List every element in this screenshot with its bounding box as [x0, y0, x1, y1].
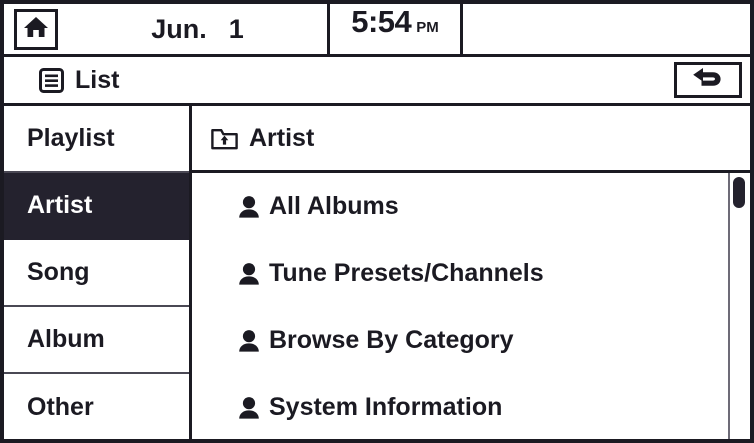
- sidebar-item-label: Album: [27, 325, 105, 354]
- scrollbar[interactable]: [728, 173, 744, 441]
- content-area: Playlist Artist Song Album Other: [4, 106, 750, 441]
- clock-display: 5:54 PM: [330, 4, 463, 54]
- back-arrow-icon: [690, 67, 726, 94]
- person-icon: [238, 262, 260, 285]
- clock-time: 5:54: [351, 4, 411, 40]
- home-button-cell: [4, 4, 68, 54]
- infotainment-screen: Jun. 1 5:54 PM List: [0, 0, 754, 443]
- sidebar-item-label: Song: [27, 258, 90, 287]
- sidebar-item-label: Artist: [27, 191, 92, 220]
- breadcrumb[interactable]: Artist: [192, 106, 750, 173]
- back-button[interactable]: [674, 62, 742, 98]
- list-item-label: Tune Presets/Channels: [269, 259, 544, 288]
- list-item-label: Browse By Category: [269, 326, 514, 355]
- list-scroll-area: All Albums Tune Presets/Channels: [192, 173, 750, 441]
- breadcrumb-label: Artist: [249, 124, 314, 153]
- scrollbar-thumb[interactable]: [733, 177, 745, 208]
- list-panel: Artist All Albums: [192, 106, 750, 441]
- date-display: Jun. 1: [68, 4, 330, 54]
- sidebar-item-album[interactable]: Album: [4, 307, 189, 374]
- page-title: List: [75, 66, 119, 95]
- list-item[interactable]: System Information: [192, 374, 726, 441]
- sidebar-item-playlist[interactable]: Playlist: [4, 106, 189, 173]
- sidebar-item-label: Other: [27, 393, 94, 422]
- person-icon: [238, 195, 260, 218]
- list-items: All Albums Tune Presets/Channels: [192, 173, 726, 441]
- sidebar-item-other[interactable]: Other: [4, 374, 189, 441]
- sidebar-item-artist[interactable]: Artist: [4, 173, 189, 240]
- home-button[interactable]: [14, 9, 58, 50]
- list-item-label: System Information: [269, 393, 502, 422]
- sidebar-item-song[interactable]: Song: [4, 240, 189, 307]
- home-icon: [23, 15, 49, 44]
- list-item[interactable]: All Albums: [192, 173, 726, 240]
- title-bar: List: [4, 57, 750, 106]
- person-icon: [238, 329, 260, 352]
- status-bar-empty-cell: [463, 4, 750, 54]
- folder-up-icon: [211, 127, 238, 150]
- list-icon: [39, 68, 64, 93]
- date-day: 1: [229, 14, 244, 45]
- date-month: Jun.: [151, 14, 207, 45]
- status-bar: Jun. 1 5:54 PM: [4, 4, 750, 57]
- category-sidebar: Playlist Artist Song Album Other: [4, 106, 192, 441]
- list-item-label: All Albums: [269, 192, 399, 221]
- person-icon: [238, 396, 260, 419]
- list-item[interactable]: Tune Presets/Channels: [192, 240, 726, 307]
- list-item[interactable]: Browse By Category: [192, 307, 726, 374]
- sidebar-item-label: Playlist: [27, 124, 115, 153]
- clock-meridiem: PM: [416, 19, 439, 36]
